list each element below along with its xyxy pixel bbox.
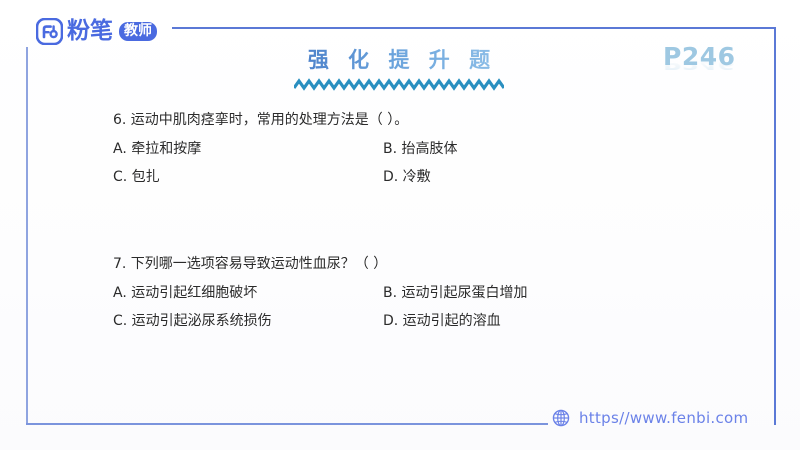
option-row: A. 运动引起红细胞破坏 B. 运动引起尿蛋白增加 [113, 285, 653, 301]
slide-canvas: 粉笔 教师 强 化 提 升 题 P246 P246 6. 运动中肌肉痉挛时，常用… [0, 0, 800, 450]
frame-border-right [774, 27, 776, 425]
website-url[interactable]: https//www.fenbi.com [579, 411, 748, 426]
option-row: A. 牵拉和按摩 B. 抬高肢体 [113, 141, 653, 157]
page-title: 强 化 提 升 题 [296, 48, 508, 73]
page-number-group: P246 P246 [663, 44, 736, 96]
page-title-group: 强 化 提 升 题 [296, 48, 508, 92]
option-d[interactable]: D. 运动引起的溶血 [383, 313, 653, 329]
brand-badge: 教师 [119, 22, 157, 41]
page-number-reflection: P246 [663, 57, 736, 71]
fb-monogram-icon [36, 18, 63, 45]
option-row: C. 运动引起泌尿系统损伤 D. 运动引起的溶血 [113, 313, 653, 329]
option-c[interactable]: C. 运动引起泌尿系统损伤 [113, 313, 383, 329]
question-6: 6. 运动中肌肉痉挛时，常用的处理方法是（ ）。 A. 牵拉和按摩 B. 抬高肢… [113, 112, 653, 185]
option-d[interactable]: D. 冷敷 [383, 169, 653, 185]
globe-icon [552, 409, 570, 427]
question-stem: 6. 运动中肌肉痉挛时，常用的处理方法是（ ）。 [113, 112, 653, 128]
option-b[interactable]: B. 抬高肢体 [383, 141, 653, 157]
frame-border-top [172, 27, 776, 29]
question-content: 6. 运动中肌肉痉挛时，常用的处理方法是（ ）。 A. 牵拉和按摩 B. 抬高肢… [113, 112, 653, 342]
wavy-underline-icon [294, 78, 504, 92]
option-b[interactable]: B. 运动引起尿蛋白增加 [383, 285, 653, 301]
brand-logo: 粉笔 教师 [36, 16, 157, 46]
frame-border-bottom [26, 423, 548, 425]
option-c[interactable]: C. 包扎 [113, 169, 383, 185]
question-spacer [113, 197, 653, 256]
option-a[interactable]: A. 运动引起红细胞破坏 [113, 285, 383, 301]
option-a[interactable]: A. 牵拉和按摩 [113, 141, 383, 157]
question-7: 7. 下列哪一选项容易导致运动性血尿？（ ） A. 运动引起红细胞破坏 B. 运… [113, 256, 653, 329]
option-row: C. 包扎 D. 冷敷 [113, 169, 653, 185]
brand-name: 粉笔 [67, 20, 113, 43]
question-stem: 7. 下列哪一选项容易导致运动性血尿？（ ） [113, 256, 653, 272]
frame-border-left [26, 47, 28, 425]
footer-website[interactable]: https//www.fenbi.com [552, 409, 748, 427]
